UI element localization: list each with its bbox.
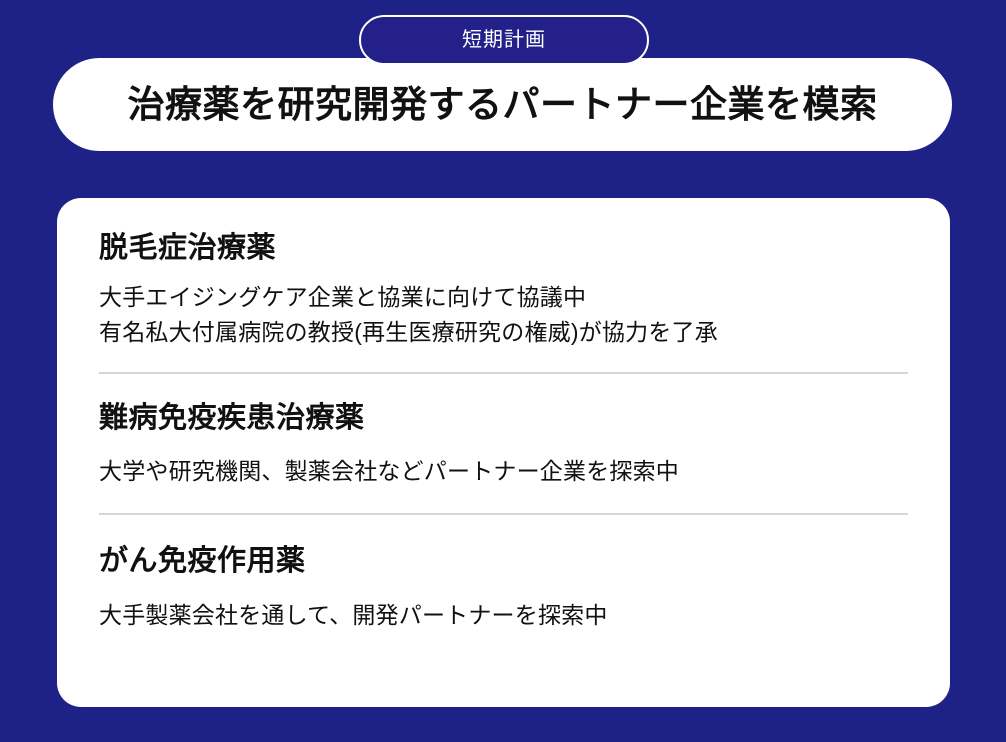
section-alopecia-drug: 脱毛症治療薬 大手エイジングケア企業と協業に向けて協議中 有名私大付属病院の教授… <box>99 230 908 372</box>
section-heading: 難病免疫疾患治療薬 <box>99 400 908 436</box>
section-line: 大手エイジングケア企業と協業に向けて協議中 <box>99 280 908 315</box>
title-card: 治療薬を研究開発するパートナー企業を模索 <box>53 58 952 151</box>
section-heading: がん免疫作用薬 <box>99 543 908 579</box>
section-heading: 脱毛症治療薬 <box>99 230 908 266</box>
plan-term-badge: 短期計画 <box>359 15 649 65</box>
section-line: 大学や研究機関、製薬会社などパートナー企業を探索中 <box>99 454 908 489</box>
section-line: 有名私大付属病院の教授(再生医療研究の権威)が協力を了承 <box>99 315 908 350</box>
section-line-list: 大学や研究機関、製薬会社などパートナー企業を探索中 <box>99 454 908 489</box>
content-card: 脱毛症治療薬 大手エイジングケア企業と協業に向けて協議中 有名私大付属病院の教授… <box>57 198 950 707</box>
section-line-list: 大手製薬会社を通して、開発パートナーを探索中 <box>99 598 908 633</box>
plan-term-badge-label: 短期計画 <box>462 30 546 50</box>
section-cancer-immunity-drug: がん免疫作用薬 大手製薬会社を通して、開発パートナーを探索中 <box>99 515 908 632</box>
section-line-list: 大手エイジングケア企業と協業に向けて協議中 有名私大付属病院の教授(再生医療研究… <box>99 280 908 350</box>
section-line: 大手製薬会社を通して、開発パートナーを探索中 <box>99 598 908 633</box>
page-title: 治療薬を研究開発するパートナー企業を模索 <box>128 86 878 123</box>
section-intractable-immune-disease-drug: 難病免疫疾患治療薬 大学や研究機関、製薬会社などパートナー企業を探索中 <box>99 374 908 513</box>
